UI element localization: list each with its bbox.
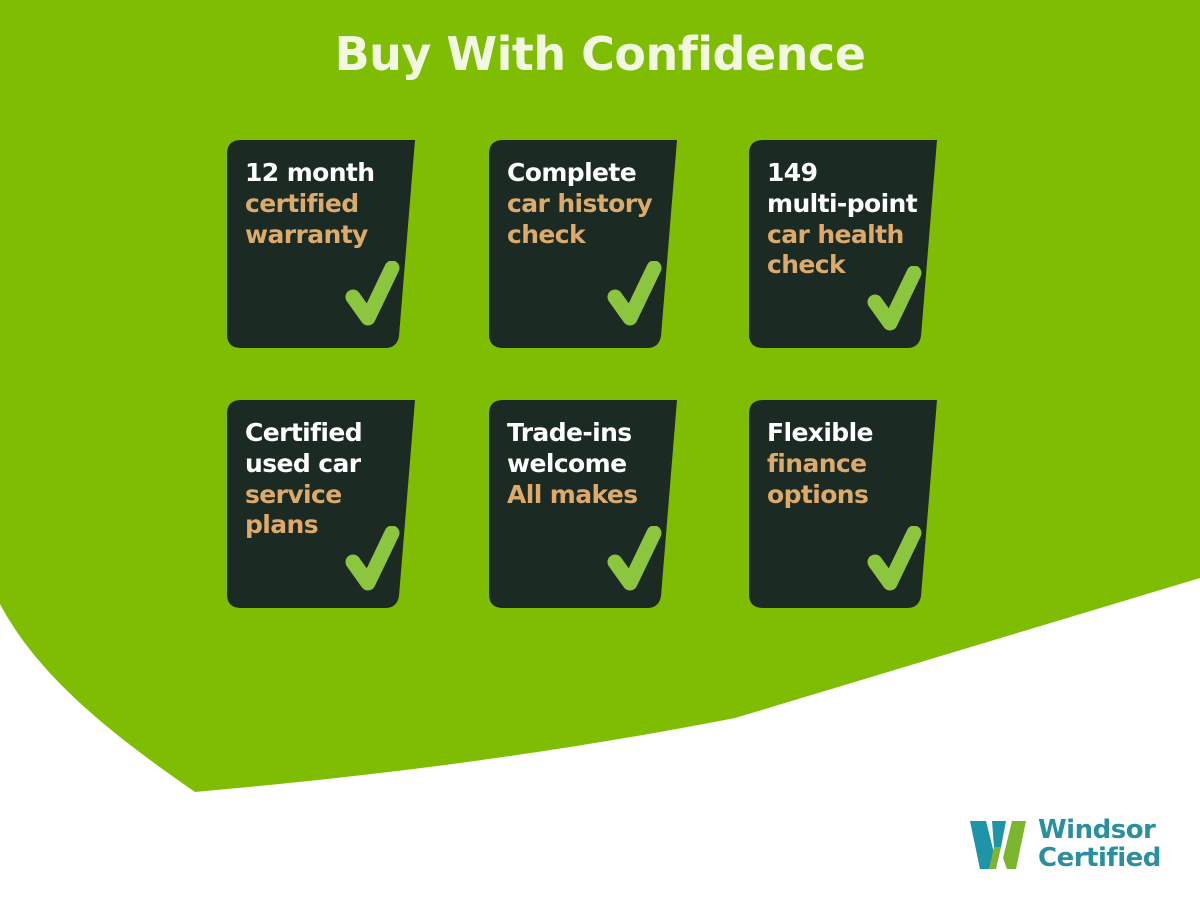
benefit-card-service-plans[interactable]: Certified used car service plans [227,400,417,608]
benefit-card-grid: 12 month certified warranty Complete car… [227,140,987,610]
card-line: used car [245,449,405,480]
card-line: 149 [767,158,927,189]
card-line: options [767,480,927,511]
card-line: car history [507,189,667,220]
card-line: welcome [507,449,667,480]
card-line: Complete [507,158,667,189]
checkmark-icon [867,526,923,598]
card-line: service [245,480,405,511]
windsor-certified-logo[interactable]: Windsor Certified [968,812,1168,878]
benefit-card-car-health-check[interactable]: 149 multi-point car health check [749,140,939,348]
benefit-card-certified-warranty[interactable]: 12 month certified warranty [227,140,417,348]
checkmark-icon [345,261,401,333]
card-line: Certified [245,418,405,449]
poster-canvas: Buy With Confidence 12 month certified w… [0,0,1200,900]
card-line: All makes [507,480,667,511]
benefit-card-trade-ins-welcome[interactable]: Trade-ins welcome All makes [489,400,679,608]
card-line: finance [767,449,927,480]
card-line: 12 month [245,158,405,189]
card-line: car health [767,220,927,251]
checkmark-icon [867,266,923,338]
card-line: certified [245,189,405,220]
card-line: warranty [245,220,405,251]
checkmark-icon [607,526,663,598]
logo-wordmark: Windsor Certified [1038,817,1161,872]
card-line: Flexible [767,418,927,449]
card-line: Trade-ins [507,418,667,449]
logo-line-2: Certified [1038,845,1161,873]
card-line: check [507,220,667,251]
checkmark-icon [607,261,663,333]
logo-line-1: Windsor [1038,817,1161,845]
card-line: multi-point [767,189,927,220]
benefit-card-car-history-check[interactable]: Complete car history check [489,140,679,348]
benefit-card-finance-options[interactable]: Flexible finance options [749,400,939,608]
checkmark-icon [345,526,401,598]
windsor-w-monogram-icon [968,817,1030,873]
page-title: Buy With Confidence [0,27,1200,81]
